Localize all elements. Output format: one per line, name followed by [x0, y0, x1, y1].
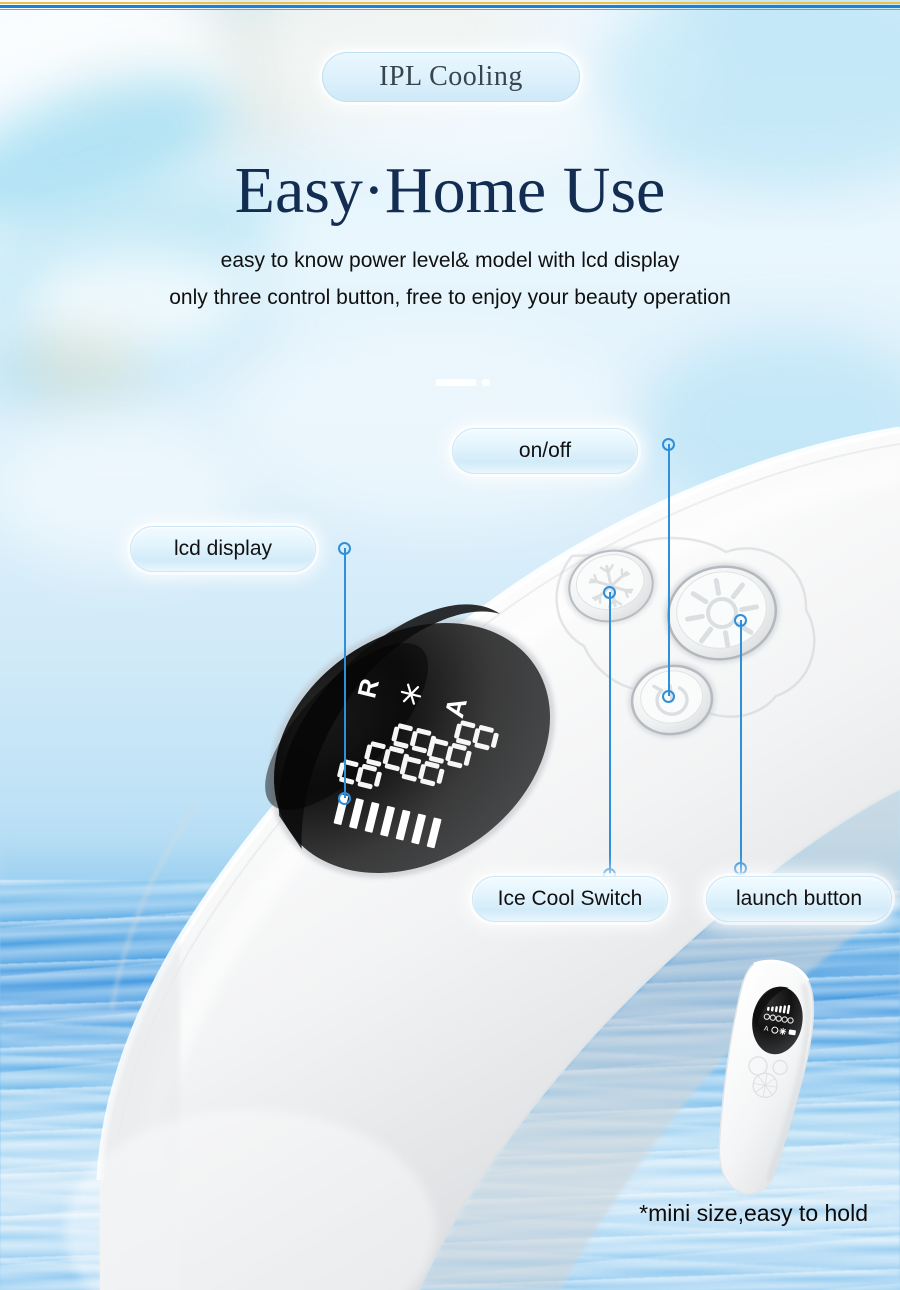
callout-onoff[interactable]: on/off: [452, 428, 638, 474]
connector-ring-launch-end: [734, 862, 747, 875]
badge-label: IPL Cooling: [379, 61, 523, 93]
connector-ring-onoff-end: [662, 690, 675, 703]
decorative-dot: [482, 379, 490, 386]
callout-launch-button[interactable]: launch button: [706, 876, 892, 922]
callout-lcd-display[interactable]: lcd display: [130, 526, 316, 572]
connector-ring-lcd-end: [338, 792, 351, 805]
promo-page: R A: [0, 0, 900, 1290]
connector-ring-launch-start: [734, 614, 747, 627]
callout-ice-cool-switch[interactable]: Ice Cool Switch: [472, 876, 668, 922]
decorative-dash: [436, 379, 476, 386]
subtitle-line-1: easy to know power level& model with lcd…: [0, 249, 900, 273]
connector-ice: [609, 592, 611, 874]
connector-ring-lcd-start: [338, 542, 351, 555]
subtitle-line-2: only three control button, free to enjoy…: [0, 286, 900, 310]
connector-lcd: [344, 548, 346, 798]
connector-ring-ice-start: [603, 586, 616, 599]
mini-size-caption: *mini size,easy to hold: [0, 1200, 868, 1227]
connector-ring-onoff-start: [662, 438, 675, 451]
connector-launch: [740, 620, 742, 874]
connector-onoff: [668, 444, 670, 696]
page-title: Easy·Home Use: [0, 158, 900, 224]
ipl-cooling-badge: IPL Cooling: [322, 52, 580, 102]
